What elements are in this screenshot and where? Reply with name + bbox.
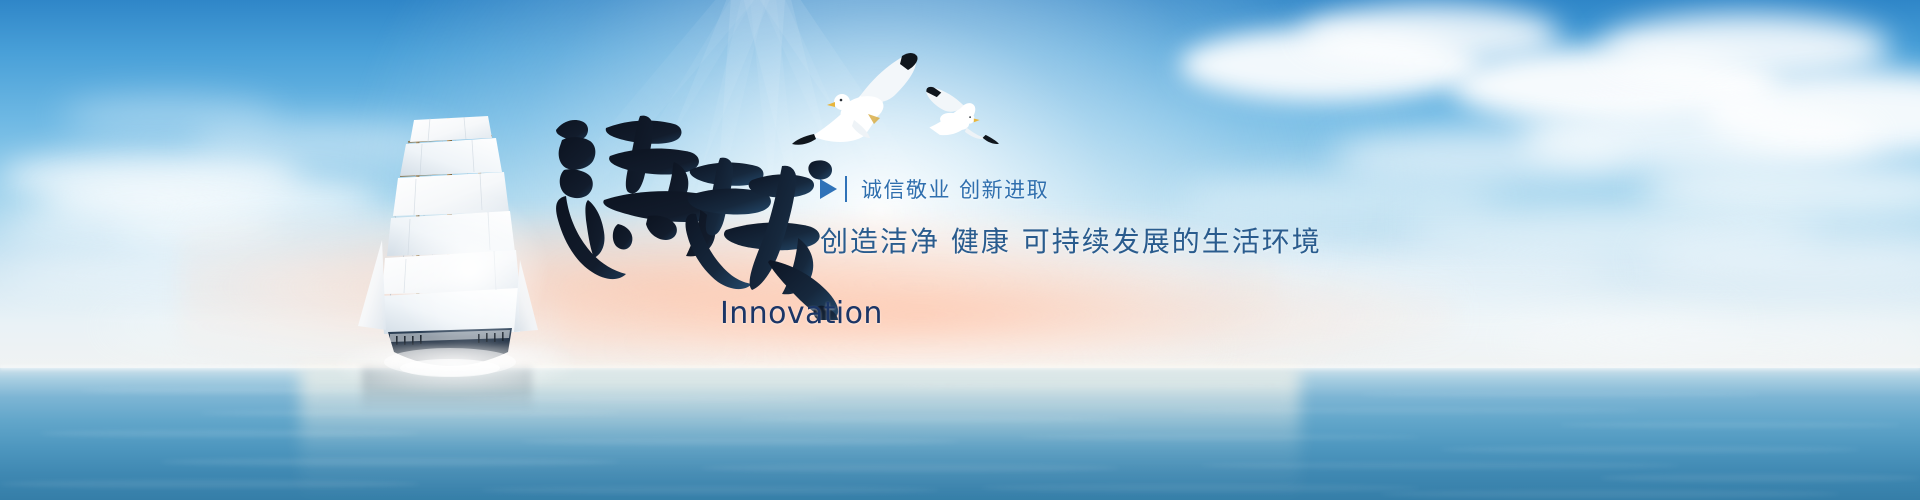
wave-highlight	[1380, 490, 1840, 498]
tall-ship-icon	[352, 80, 542, 380]
wave-highlight	[1600, 474, 1920, 482]
ship-wake	[330, 344, 580, 394]
slogan-line-1-row: 诚信敬业 创新进取	[820, 172, 1322, 206]
wave-highlight	[980, 484, 1420, 492]
wave-highlight	[1440, 446, 1860, 453]
wave-layer	[0, 366, 1920, 500]
wave-highlight	[740, 416, 1120, 422]
seagull-icon	[926, 87, 999, 144]
wave-highlight	[700, 464, 1120, 472]
wave-highlight	[480, 486, 940, 494]
wave-highlight	[900, 384, 1320, 388]
wave-highlight	[40, 430, 420, 437]
subtitle-innovation: Innovation	[720, 296, 883, 331]
slogan-line-2: 创造洁净 健康 可持续发展的生活环境	[820, 220, 1322, 260]
wave-highlight	[1560, 422, 1900, 428]
wave-highlight	[160, 458, 620, 466]
wave-highlight	[1020, 434, 1420, 440]
wave-highlight	[1180, 408, 1640, 413]
hero-banner: 诚信敬业 创新进取 创造洁净 健康 可持续发展的生活环境 Innovation	[0, 0, 1920, 500]
cloud-puff	[1640, 236, 1920, 280]
slogan-line-1: 诚信敬业 创新进取	[861, 174, 1049, 204]
cloud-puff	[1500, 322, 1920, 358]
play-triangle-icon	[820, 179, 837, 199]
wave-highlight	[1360, 392, 1760, 397]
slogan-block: 诚信敬业 创新进取 创造洁净 健康 可持续发展的生活环境	[820, 172, 1322, 260]
vertical-bar-icon	[845, 176, 847, 202]
wave-highlight	[520, 438, 960, 445]
calligraphy-kuayue	[548, 100, 848, 320]
wave-highlight	[1200, 462, 1680, 469]
cloud-puff	[60, 96, 280, 136]
wave-highlight	[0, 480, 420, 488]
